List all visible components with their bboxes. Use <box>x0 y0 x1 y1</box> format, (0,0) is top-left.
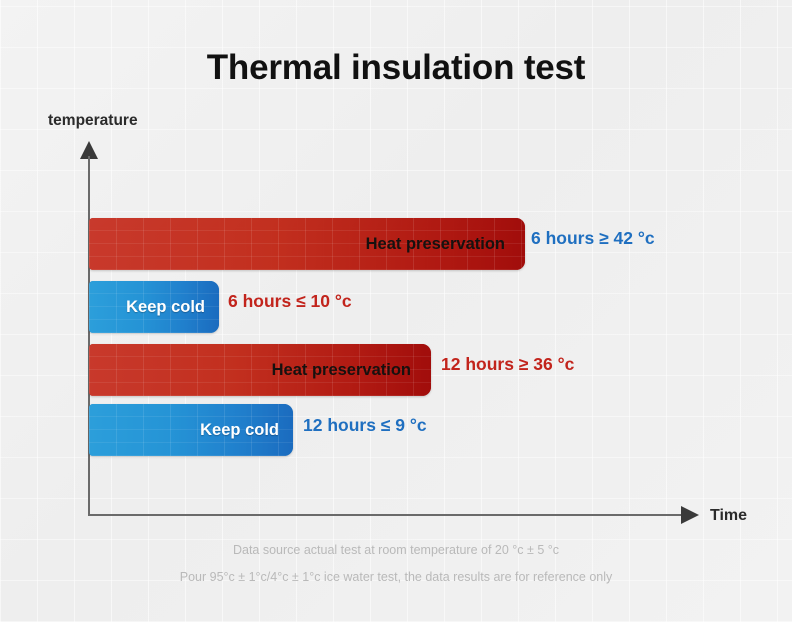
value-label-heat-preservation-6h: 6 hours ≥ 42 °c <box>531 228 655 249</box>
thermal-insulation-chart: Thermal insulation test temperature Time… <box>0 0 792 622</box>
x-axis-line <box>88 514 684 516</box>
bar-heat-preservation-12h: Heat preservation <box>89 344 431 396</box>
bar-heat-preservation-6h: Heat preservation <box>89 218 525 270</box>
bar-label-keep-cold-12h: Keep cold <box>200 421 293 440</box>
footnote-disclaimer: Pour 95°c ± 1°c/4°c ± 1°c ice water test… <box>0 570 792 584</box>
arrow-right-icon <box>681 506 699 524</box>
bar-keep-cold-6h: Keep cold <box>89 281 219 333</box>
bar-keep-cold-12h: Keep cold <box>89 404 293 456</box>
page-title: Thermal insulation test <box>0 48 792 88</box>
bar-label-heat-preservation-12h: Heat preservation <box>272 361 431 380</box>
y-axis-line <box>88 156 90 516</box>
y-axis-label: temperature <box>48 112 138 130</box>
value-label-keep-cold-6h: 6 hours ≤ 10 °c <box>228 291 352 312</box>
x-axis-label: Time <box>710 507 747 525</box>
value-label-keep-cold-12h: 12 hours ≤ 9 °c <box>303 415 427 436</box>
bar-label-heat-preservation-6h: Heat preservation <box>366 235 525 254</box>
value-label-heat-preservation-12h: 12 hours ≥ 36 °c <box>441 354 574 375</box>
footnote-data-source: Data source actual test at room temperat… <box>0 543 792 557</box>
bar-label-keep-cold-6h: Keep cold <box>126 298 219 317</box>
